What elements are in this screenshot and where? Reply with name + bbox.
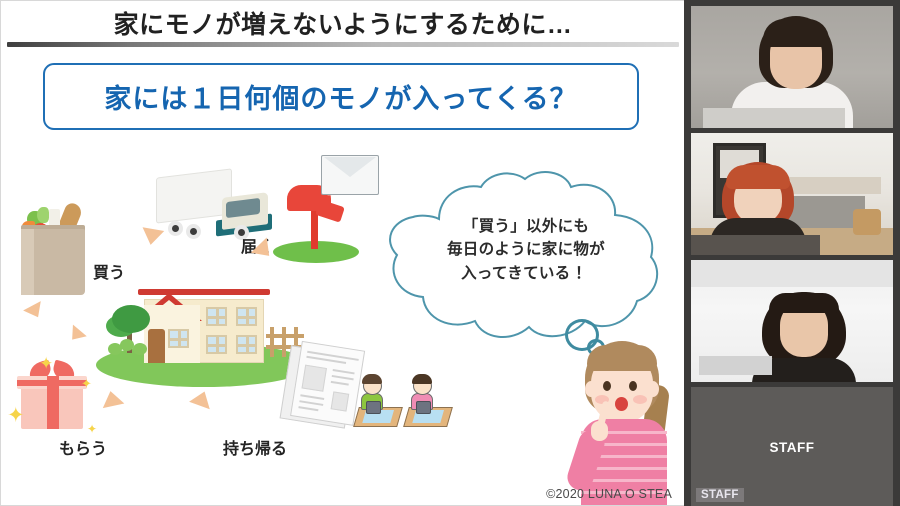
grocery-bag-icon xyxy=(17,203,89,295)
video-tile-participant-2[interactable] xyxy=(691,133,893,255)
label-receive: もらう xyxy=(59,435,107,459)
shared-slide: 家にモノが増えないようにするために… 家には１日何個のモノが入ってくる？ 買う … xyxy=(0,0,684,506)
thought-bubble: 「買う」以外にも 毎日のように家に物が 入ってきている ！ xyxy=(379,171,671,349)
slide-header-title: 家にモノが増えないようにするために… xyxy=(1,5,684,41)
participant-3-video xyxy=(691,260,893,382)
thinking-girl-illustration xyxy=(567,341,677,506)
house-illustration xyxy=(106,271,301,387)
label-bring-home: 持ち帰る xyxy=(223,435,287,459)
participant-2-video xyxy=(691,133,893,255)
sparkle-icon: ✦ xyxy=(39,355,53,372)
flow-arrow xyxy=(23,301,47,322)
question-callout-box: 家には１日何個のモノが入ってくる？ xyxy=(43,63,639,130)
gift-box-icon xyxy=(15,365,89,429)
participant-4-display-name: STAFF xyxy=(770,440,815,455)
question-text: 家には１日何個のモノが入ってくる？ xyxy=(104,77,577,116)
video-tile-participant-1[interactable] xyxy=(691,6,893,128)
meeting-screen-share-view: 家にモノが増えないようにするために… 家には１日何個のモノが入ってくる？ 買う … xyxy=(0,0,900,506)
sparkle-icon: ✦ xyxy=(87,423,97,435)
thought-bubble-text: 「買う」以外にも 毎日のように家に物が 入ってきている ！ xyxy=(413,215,639,285)
flow-arrow xyxy=(100,389,125,408)
flow-arrow xyxy=(189,388,215,410)
sparkle-icon: ✦ xyxy=(7,405,25,426)
schoolkids-icon xyxy=(356,371,454,433)
participant-1-video xyxy=(691,6,893,128)
video-tile-participant-3[interactable] xyxy=(691,260,893,382)
video-tile-participant-4[interactable]: STAFF STAFF xyxy=(691,387,893,506)
participant-4-name-chip: STAFF xyxy=(696,488,744,502)
flow-arrow xyxy=(140,227,164,247)
title-divider xyxy=(7,42,679,47)
copyright-text: ©2020 LUNA O STEA xyxy=(546,487,672,501)
participant-video-rail: STAFF STAFF xyxy=(684,0,900,506)
sparkle-icon: ✦ xyxy=(81,377,92,390)
flow-arrow xyxy=(65,325,87,346)
envelope-icon xyxy=(321,155,379,195)
illustration-canvas: 買う ✦ ✦ ✦ ✦ もらう xyxy=(1,133,684,506)
